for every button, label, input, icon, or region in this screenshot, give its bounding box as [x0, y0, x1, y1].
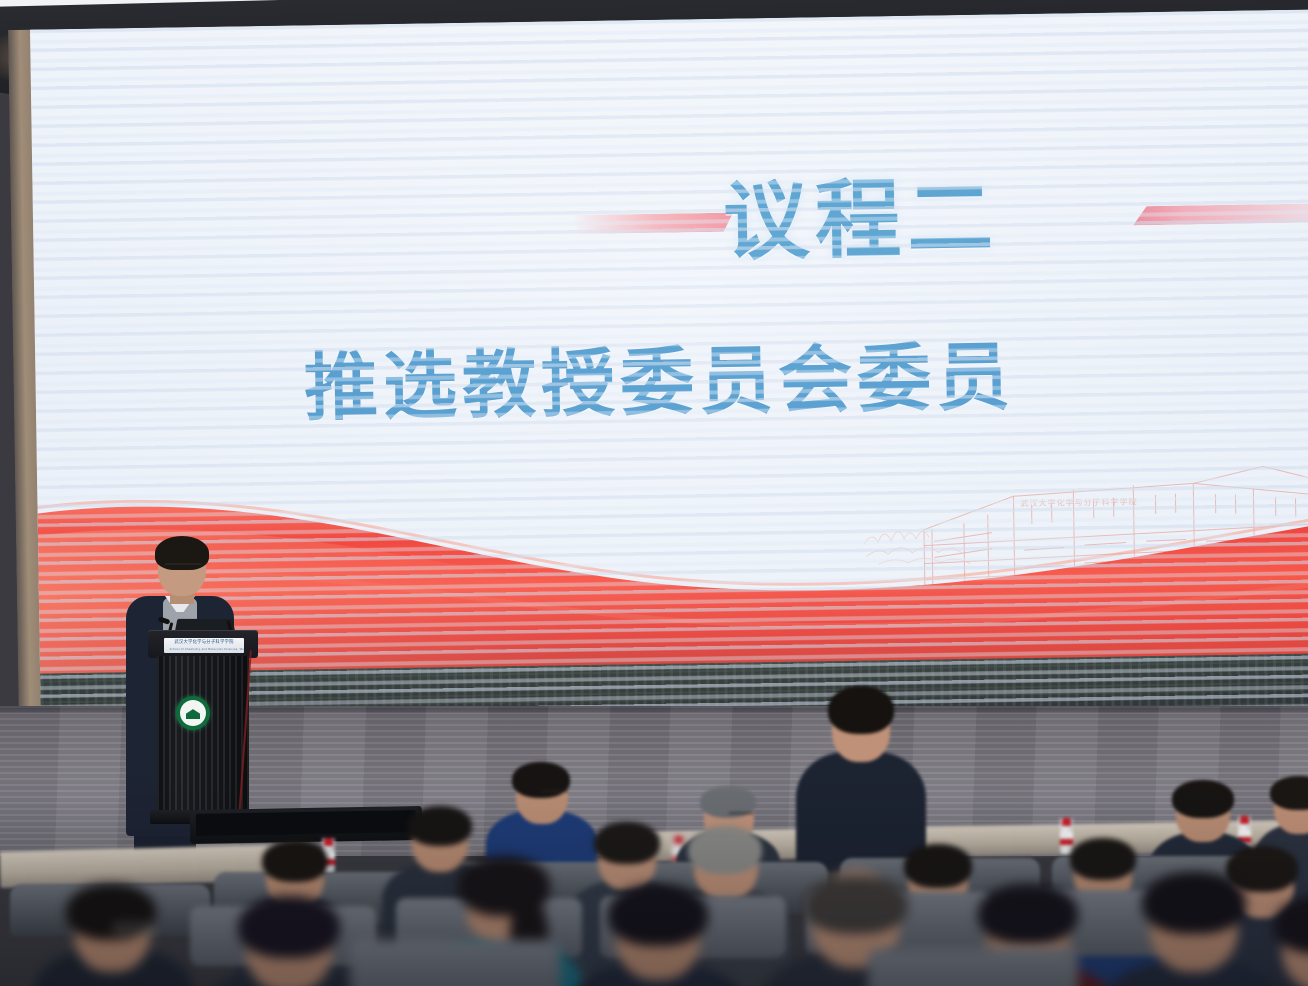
foreground-attendee	[568, 884, 748, 986]
attendee-hair	[828, 686, 894, 734]
attendee-hair	[1142, 872, 1246, 934]
seat-back	[868, 948, 1078, 986]
attendee-hair	[804, 876, 908, 934]
wuhan-university-emblem-icon	[176, 696, 210, 730]
attendee-hair	[1274, 896, 1308, 954]
attendee-hair	[608, 884, 708, 946]
attendee-standing-suit	[796, 686, 926, 866]
attendee-hair	[1172, 780, 1234, 818]
attendee-hair	[238, 896, 340, 958]
attendee-glasses-icon	[728, 812, 754, 819]
foreground-attendee	[34, 884, 194, 986]
attendee-hair	[408, 806, 472, 846]
attendee-hair	[594, 822, 660, 864]
attendee-hair	[688, 826, 762, 874]
attendee-glasses-icon	[114, 924, 154, 934]
bottle-cap	[1062, 818, 1071, 826]
seat-back	[350, 940, 560, 986]
attendee-hair	[978, 884, 1078, 944]
attendee-glasses-icon	[540, 790, 568, 797]
attendee-hair	[1270, 776, 1308, 810]
conference-hall-photo: 议程二 推选教授委员会委员 武汉大学化学与分子科学学院	[0, 0, 1308, 986]
audience-area	[0, 0, 1308, 986]
attendee-hair	[262, 840, 328, 882]
foreground-attendee	[1252, 896, 1308, 986]
